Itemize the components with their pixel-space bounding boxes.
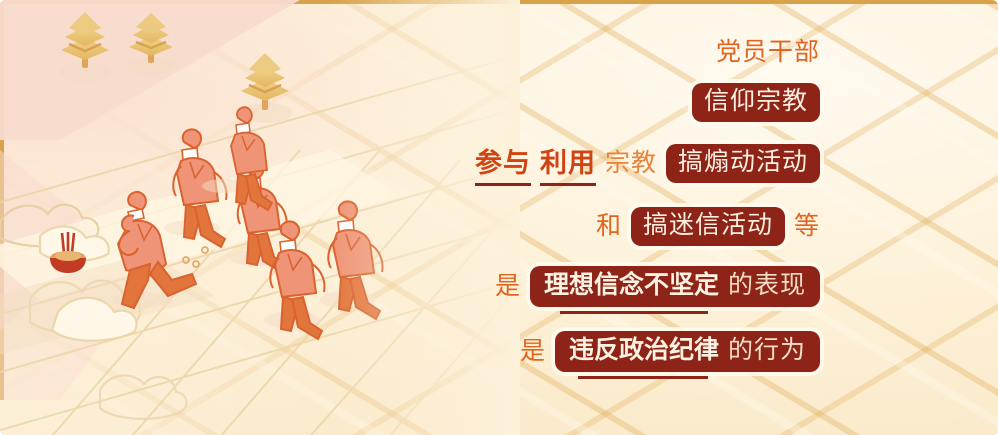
- underline-violate-discipline: [578, 376, 708, 379]
- slogan-line-3: 参与利用宗教搞煽动活动: [470, 144, 820, 183]
- keyword-participate: 参与: [475, 148, 531, 186]
- word-religion: 宗教: [605, 150, 657, 177]
- badge-incitement-activities: 搞煽动活动: [666, 144, 820, 183]
- badge-believe-religion: 信仰宗教: [692, 83, 820, 122]
- poster-root: 党员干部 信仰宗教 参与利用宗教搞煽动活动 和搞迷信活动等 是理想信念不坚定的表…: [0, 0, 998, 435]
- word-and: 和: [596, 213, 622, 240]
- word-etc: 等: [794, 213, 820, 240]
- badge-weak-ideals-bold: 理想信念不坚定: [544, 272, 719, 299]
- slogan-line-2: 信仰宗教: [470, 83, 820, 122]
- slogan-line-4: 和搞迷信活动等: [470, 207, 820, 246]
- slogan-line-6: 是违反政治纪律的行为: [470, 331, 820, 372]
- slogan-line-1: 党员干部: [470, 40, 820, 65]
- illustration-isometric-plaza: [0, 0, 520, 435]
- badge-weak-ideals-thin: 的表现: [728, 272, 806, 299]
- badge-superstition-activities: 搞迷信活动: [631, 207, 785, 246]
- badge-violate-discipline-bold: 违反政治纪律: [569, 337, 719, 364]
- slogan-line-1-text: 党员干部: [716, 39, 820, 66]
- underline-weak-ideals: [560, 311, 708, 314]
- slogan-text-column: 党员干部 信仰宗教 参与利用宗教搞煽动活动 和搞迷信活动等 是理想信念不坚定的表…: [470, 40, 820, 372]
- badge-violate-discipline-thin: 的行为: [728, 337, 806, 364]
- slogan-line-5: 是理想信念不坚定的表现: [470, 266, 820, 307]
- badge-violate-discipline: 违反政治纪律的行为: [555, 331, 820, 372]
- word-is-1: 是: [495, 273, 521, 300]
- keyword-exploit: 利用: [540, 148, 596, 186]
- badge-weak-ideals: 理想信念不坚定的表现: [530, 266, 820, 307]
- word-is-2: 是: [520, 338, 546, 365]
